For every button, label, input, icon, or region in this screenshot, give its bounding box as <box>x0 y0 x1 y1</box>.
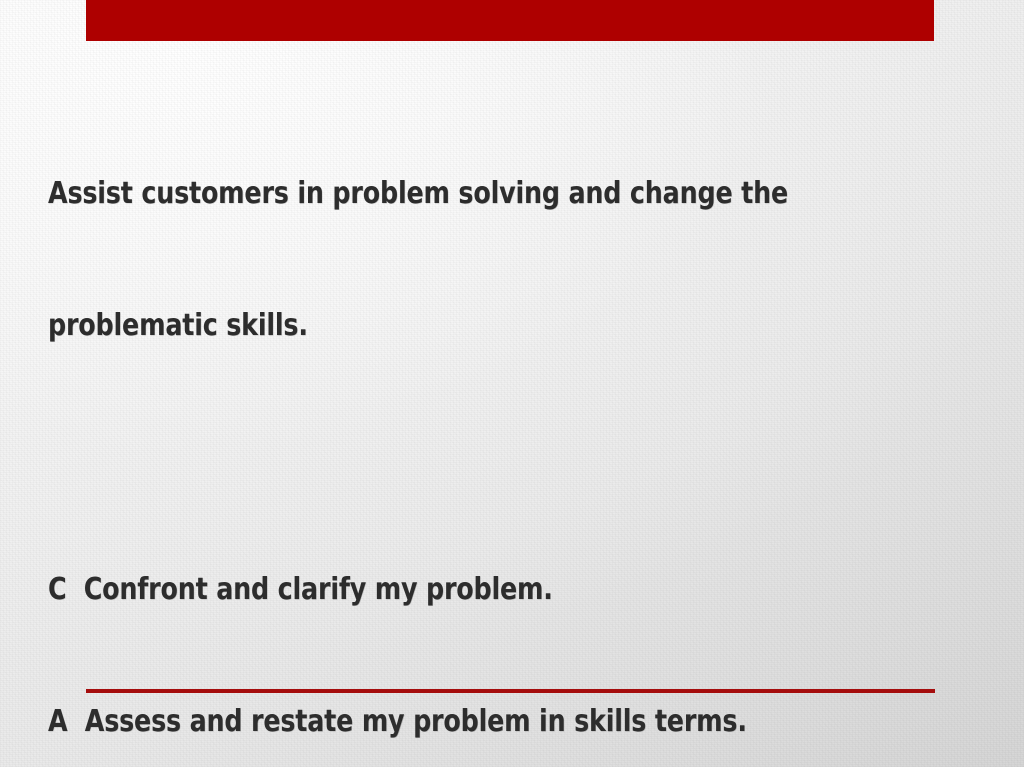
top-accent-bar <box>86 0 934 41</box>
blank-line-spacer <box>48 436 809 480</box>
paragraph-line-2: problematic skills. <box>48 304 809 348</box>
acronym-item-a: A Assess and restate my problem in skill… <box>48 700 809 744</box>
slide-body-text: Assist customers in problem solving and … <box>48 84 809 767</box>
presentation-slide: Assist customers in problem solving and … <box>0 0 1024 767</box>
paragraph-line-1: Assist customers in problem solving and … <box>48 172 809 216</box>
bottom-accent-rule <box>86 689 935 693</box>
acronym-item-c: C Confront and clarify my problem. <box>48 568 809 612</box>
